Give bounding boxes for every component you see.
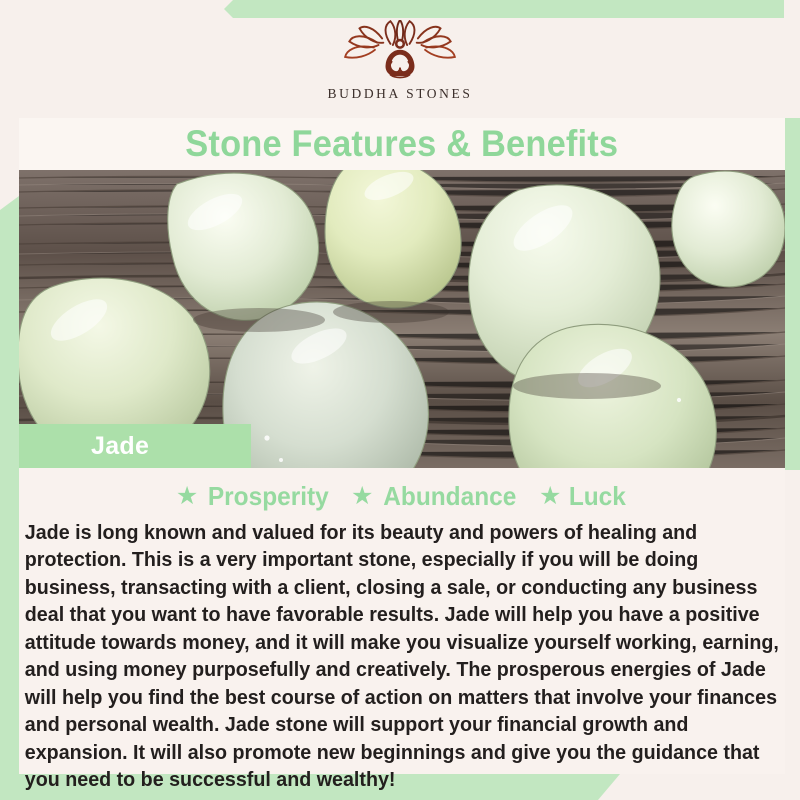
- stone-description: Jade is long known and valued for its be…: [19, 512, 793, 794]
- title-band: Stone Features & Benefits: [19, 118, 785, 170]
- brand-name: BUDDHA STONES: [328, 86, 473, 102]
- benefit-label: Prosperity: [208, 481, 329, 512]
- star-icon: ★: [351, 484, 373, 509]
- lotus-meditation-icon: [340, 20, 460, 82]
- stone-info-poster: BUDDHA STONES Stone Features & Benefits: [0, 0, 800, 800]
- benefit-item-abundance: ★ Abundance: [351, 481, 521, 512]
- content-panel: ★ Prosperity ★ Abundance ★ Luck Jade is …: [19, 468, 785, 774]
- stone-label-band: Jade: [19, 424, 251, 468]
- green-accent-left-edge: [0, 196, 19, 800]
- benefits-row: ★ Prosperity ★ Abundance ★ Luck: [19, 468, 785, 512]
- benefit-item-luck: ★ Luck: [539, 481, 628, 512]
- page-title: Stone Features & Benefits: [186, 123, 619, 165]
- benefit-label: Abundance: [384, 481, 517, 512]
- star-icon: ★: [539, 484, 561, 509]
- star-icon: ★: [176, 484, 198, 509]
- stone-name: Jade: [91, 432, 149, 461]
- brand-logo: BUDDHA STONES: [0, 20, 800, 102]
- benefit-label: Luck: [569, 481, 626, 512]
- benefit-item-prosperity: ★ Prosperity: [176, 481, 333, 512]
- green-accent-top-right: [215, 0, 800, 18]
